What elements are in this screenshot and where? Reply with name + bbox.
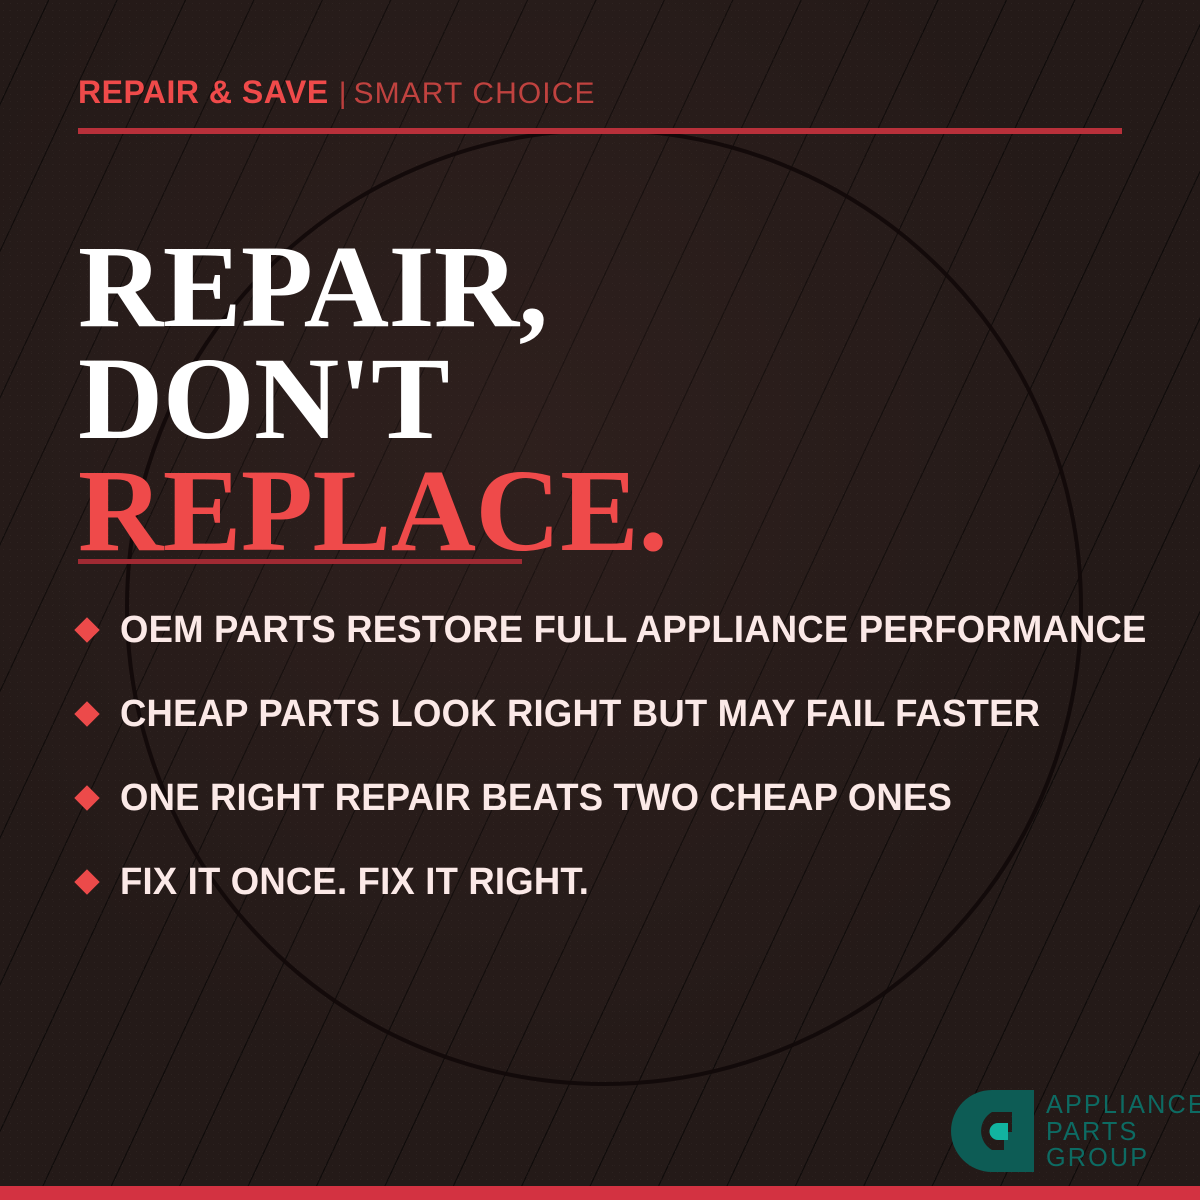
list-item: ONE RIGHT REPAIR BEATS TWO CHEAP ONES (78, 756, 1158, 840)
bullets-divider-rule (78, 559, 522, 564)
list-item-label: CHEAP PARTS LOOK RIGHT BUT MAY FAIL FAST… (120, 693, 1040, 736)
benefits-list: OEM PARTS RESTORE FULL APPLIANCE PERFORM… (78, 588, 1158, 924)
promo-poster: REPAIR & SAVE | SMART CHOICE REPAIR, DON… (0, 0, 1200, 1200)
diamond-bullet-icon (74, 701, 99, 726)
header-divider-rule (78, 128, 1122, 134)
diamond-bullet-icon (74, 617, 99, 642)
headline: REPAIR, DON'T REPLACE. (78, 231, 667, 567)
diamond-bullet-icon (74, 869, 99, 894)
list-item: FIX IT ONCE. FIX IT RIGHT. (78, 840, 1158, 924)
list-item-label: FIX IT ONCE. FIX IT RIGHT. (120, 861, 589, 904)
eyebrow-main-label: REPAIR & SAVE (78, 74, 329, 111)
list-item: OEM PARTS RESTORE FULL APPLIANCE PERFORM… (78, 588, 1158, 672)
brand-logo: APPLIANCE PARTS GROUP (948, 1090, 1200, 1177)
headline-line-3: REPLACE. (78, 455, 667, 567)
headline-line-1: REPAIR, (78, 231, 667, 343)
brand-word-3: GROUP (1046, 1144, 1200, 1171)
eyebrow-kicker: REPAIR & SAVE | SMART CHOICE (78, 74, 596, 111)
list-item-label: ONE RIGHT REPAIR BEATS TWO CHEAP ONES (120, 777, 952, 820)
brand-word-2: PARTS (1046, 1118, 1200, 1145)
eyebrow-sub-label: SMART CHOICE (353, 77, 595, 111)
diamond-bullet-icon (74, 785, 99, 810)
brand-logo-wordmark: APPLIANCE PARTS GROUP (1046, 1090, 1200, 1171)
eyebrow-separator: | (339, 77, 347, 111)
brand-word-1: APPLIANCE (1046, 1091, 1200, 1118)
list-item: CHEAP PARTS LOOK RIGHT BUT MAY FAIL FAST… (78, 672, 1158, 756)
bottom-accent-bar (0, 1186, 1200, 1200)
g-monogram-icon (948, 1090, 1036, 1177)
poster-content: REPAIR & SAVE | SMART CHOICE REPAIR, DON… (0, 0, 1200, 1200)
headline-line-2: DON'T (78, 343, 667, 455)
list-item-label: OEM PARTS RESTORE FULL APPLIANCE PERFORM… (120, 609, 1147, 652)
